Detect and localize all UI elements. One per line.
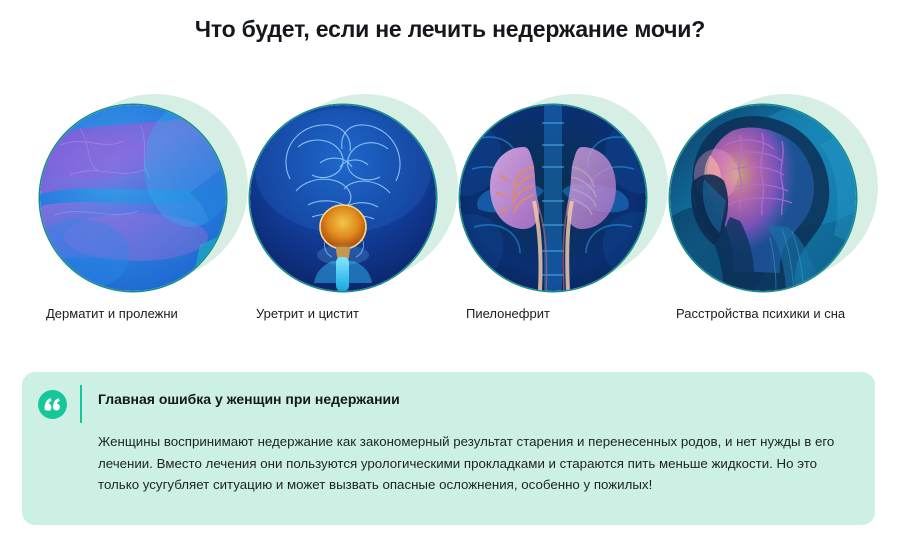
complication-card[interactable]: Расстройства психики и сна bbox=[668, 92, 878, 332]
card-caption: Пиелонефрит bbox=[466, 306, 676, 322]
callout-divider bbox=[80, 385, 82, 423]
kidneys-xray-illustration bbox=[460, 105, 646, 291]
card-caption: Уретрит и цистит bbox=[256, 306, 466, 322]
skin-dermatitis-photo bbox=[40, 105, 226, 291]
complications-card-row: Дерматит и пролежни bbox=[0, 92, 900, 332]
bladder-urethra-illustration bbox=[250, 105, 436, 291]
complication-card[interactable]: Дерматит и пролежни bbox=[38, 92, 248, 332]
quote-callout: Главная ошибка у женщин при недержании Ж… bbox=[22, 372, 875, 525]
head-brain-xray-illustration bbox=[670, 105, 856, 291]
callout-heading: Главная ошибка у женщин при недержании bbox=[98, 391, 400, 407]
complication-card[interactable]: Пиелонефрит bbox=[458, 92, 668, 332]
quote-icon bbox=[38, 390, 67, 419]
card-caption: Расстройства психики и сна bbox=[676, 306, 886, 322]
page-title: Что будет, если не лечить недержание моч… bbox=[0, 16, 900, 43]
callout-body: Женщины воспринимают недержание как зако… bbox=[98, 431, 860, 496]
complication-card[interactable]: Уретрит и цистит bbox=[248, 92, 458, 332]
card-caption: Дерматит и пролежни bbox=[46, 306, 256, 322]
